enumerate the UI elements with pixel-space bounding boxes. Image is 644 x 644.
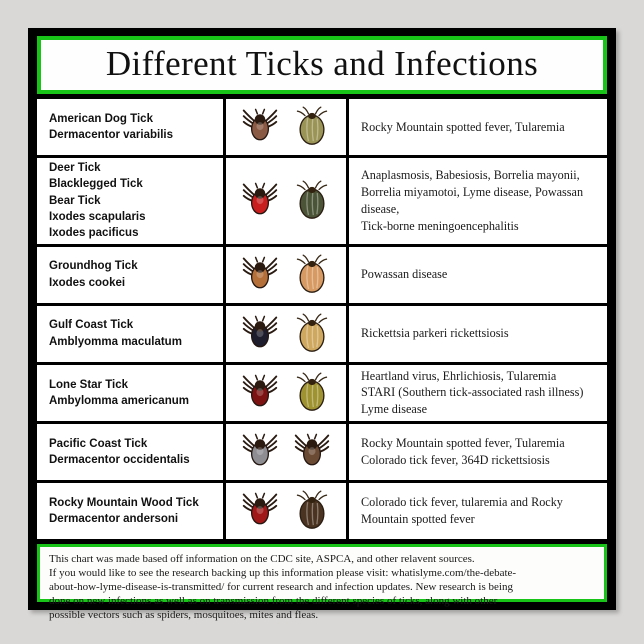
tick-gulf-coast-flat-icon [238, 312, 282, 356]
tick-lone-star-flat-icon [238, 371, 282, 415]
tick-name-cell: Groundhog TickIxodes cookei [37, 247, 223, 303]
infections-cell: Powassan disease [349, 247, 607, 303]
tick-image-cell [226, 365, 346, 421]
tick-name-line: Amblyomma maculatum [49, 334, 182, 350]
infections-list: Rickettsia parkeri rickettsiosis [361, 325, 509, 342]
tick-name-line: Ixodes pacificus [49, 225, 146, 241]
infections-list: Rocky Mountain spotted fever, Tularemia [361, 119, 565, 136]
tick-pacific-coast-flat-icon [238, 430, 282, 474]
infection-line: Mountain spotted fever [361, 511, 563, 528]
tick-lone-star-engorged-icon [290, 371, 334, 415]
infections-list: Rocky Mountain spotted fever, TularemiaC… [361, 435, 565, 469]
tick-name-list: Deer TickBlacklegged TickBear TickIxodes… [49, 160, 146, 242]
tick-name-line: Gulf Coast Tick [49, 317, 182, 333]
tick-name-cell: American Dog TickDermacentor variabilis [37, 99, 223, 155]
tick-name-list: American Dog TickDermacentor variabilis [49, 111, 173, 144]
poster-title-inner: Different Ticks and Infections [41, 40, 603, 90]
tick-name-line: Bear Tick [49, 193, 146, 209]
tick-name-line: Rocky Mountain Wood Tick [49, 495, 199, 511]
tick-name-cell: Gulf Coast TickAmblyomma maculatum [37, 306, 223, 362]
infections-cell: Colorado tick fever, tularemia and Rocky… [349, 483, 607, 539]
poster-frame: Different Ticks and Infections American … [28, 28, 616, 610]
poster-title-banner: Different Ticks and Infections [37, 36, 607, 94]
tick-name-line: Ixodes cookei [49, 275, 138, 291]
tick-deer-engorged-icon [290, 179, 334, 223]
tick-name-cell: Pacific Coast TickDermacentor occidental… [37, 424, 223, 480]
infection-line: STARI (Southern tick-associated rash ill… [361, 384, 583, 401]
tick-rocky-mountain-wood-flat-icon [238, 489, 282, 533]
tick-name-line: Lone Star Tick [49, 377, 189, 393]
tick-image-cell [226, 99, 346, 155]
tick-american-dog-engorged-icon [290, 105, 334, 149]
infection-line: Colorado tick fever, 364D rickettsiosis [361, 452, 565, 469]
infection-line: Rocky Mountain spotted fever, Tularemia [361, 119, 565, 136]
infection-line: Rickettsia parkeri rickettsiosis [361, 325, 509, 342]
tick-name-list: Groundhog TickIxodes cookei [49, 258, 138, 291]
infections-cell: Heartland virus, Ehrlichiosis, Tularemia… [349, 365, 607, 421]
tick-groundhog-flat-icon [238, 253, 282, 297]
tick-name-line: Dermacentor variabilis [49, 127, 173, 143]
tick-name-list: Gulf Coast TickAmblyomma maculatum [49, 317, 182, 350]
tick-image-cell [226, 424, 346, 480]
infections-cell: Rickettsia parkeri rickettsiosis [349, 306, 607, 362]
infection-line: Heartland virus, Ehrlichiosis, Tularemia [361, 368, 583, 385]
table-row: Gulf Coast TickAmblyomma maculatumRicket… [37, 306, 607, 362]
tick-name-line: Pacific Coast Tick [49, 436, 190, 452]
infections-list: Heartland virus, Ehrlichiosis, Tularemia… [361, 368, 583, 418]
infections-cell: Anaplasmosis, Babesiosis, Borrelia mayon… [349, 158, 607, 244]
tick-name-cell: Rocky Mountain Wood TickDermacentor ande… [37, 483, 223, 539]
tick-name-line: Ambylomma americanum [49, 393, 189, 409]
infections-cell: Rocky Mountain spotted fever, Tularemia [349, 99, 607, 155]
footer-line: If you would like to see the research ba… [49, 566, 595, 580]
footer-banner: This chart was made based off informatio… [37, 544, 607, 602]
tick-name-line: Dermacentor occidentalis [49, 452, 190, 468]
tick-groundhog-engorged-icon [290, 253, 334, 297]
tick-image-cell [226, 483, 346, 539]
tick-rocky-mountain-wood-engorged-icon [290, 489, 334, 533]
infections-cell: Rocky Mountain spotted fever, TularemiaC… [349, 424, 607, 480]
table-row: Groundhog TickIxodes cookeiPowassan dise… [37, 247, 607, 303]
tick-image-cell [226, 306, 346, 362]
footer-line: about-how-lyme-disease-is-transmitted/ f… [49, 580, 595, 594]
tick-name-line: Blacklegged Tick [49, 176, 146, 192]
tick-name-line: Dermacentor andersoni [49, 511, 199, 527]
tick-name-line: Groundhog Tick [49, 258, 138, 274]
ticks-table: American Dog TickDermacentor variabilisR… [37, 99, 607, 539]
infection-line: Lyme disease [361, 401, 583, 418]
infection-line: Rocky Mountain spotted fever, Tularemia [361, 435, 565, 452]
infection-line: Colorado tick fever, tularemia and Rocky [361, 494, 563, 511]
infection-line: Powassan disease [361, 266, 447, 283]
footer-line: done on new infections as well as on tra… [49, 594, 595, 608]
tick-name-cell: Deer TickBlacklegged TickBear TickIxodes… [37, 158, 223, 244]
table-row: Lone Star TickAmbylomma americanumHeartl… [37, 365, 607, 421]
tick-image-cell [226, 158, 346, 244]
tick-name-line: Deer Tick [49, 160, 146, 176]
tick-name-line: American Dog Tick [49, 111, 173, 127]
infection-line: Anaplasmosis, Babesiosis, Borrelia mayon… [361, 167, 601, 184]
table-row: Deer TickBlacklegged TickBear TickIxodes… [37, 158, 607, 244]
page-title: Different Ticks and Infections [106, 46, 538, 84]
infections-list: Colorado tick fever, tularemia and Rocky… [361, 494, 563, 528]
tick-name-cell: Lone Star TickAmbylomma americanum [37, 365, 223, 421]
table-row: American Dog TickDermacentor variabilisR… [37, 99, 607, 155]
tick-name-list: Lone Star TickAmbylomma americanum [49, 377, 189, 410]
tick-pacific-coast-alt-icon [290, 430, 334, 474]
infections-list: Powassan disease [361, 266, 447, 283]
footer-line: possible vectors such as spiders, mosqui… [49, 608, 595, 622]
infection-line: Borrelia miyamotoi, Lyme disease, Powass… [361, 184, 601, 218]
tick-name-list: Pacific Coast TickDermacentor occidental… [49, 436, 190, 469]
infections-list: Anaplasmosis, Babesiosis, Borrelia mayon… [361, 167, 601, 234]
tick-american-dog-flat-icon [238, 105, 282, 149]
footer-line: This chart was made based off informatio… [49, 552, 595, 566]
tick-image-cell [226, 247, 346, 303]
infection-line: Tick-borne meningoencephalitis [361, 218, 601, 235]
tick-deer-flat-icon [238, 179, 282, 223]
tick-name-list: Rocky Mountain Wood TickDermacentor ande… [49, 495, 199, 528]
table-row: Rocky Mountain Wood TickDermacentor ande… [37, 483, 607, 539]
table-row: Pacific Coast TickDermacentor occidental… [37, 424, 607, 480]
footer-note: This chart was made based off informatio… [40, 547, 604, 599]
tick-gulf-coast-engorged-icon [290, 312, 334, 356]
tick-name-line: Ixodes scapularis [49, 209, 146, 225]
